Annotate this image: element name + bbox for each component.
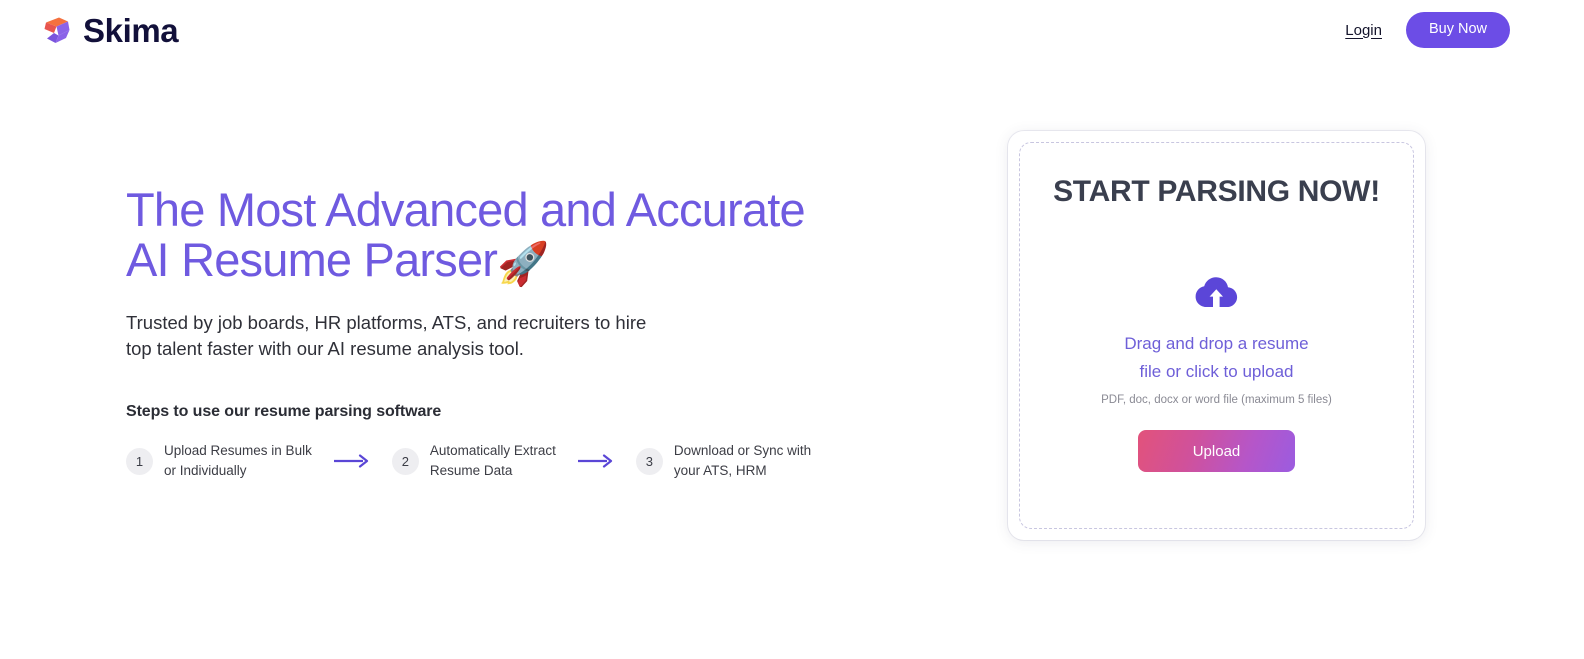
steps-title: Steps to use our resume parsing software	[126, 403, 926, 421]
upload-card-title: START PARSING NOW!	[1053, 175, 1380, 209]
dropzone-file-hint: PDF, doc, docx or word file (maximum 5 f…	[1101, 394, 1332, 406]
arrow-right-icon	[334, 454, 370, 468]
brand-logo[interactable]: Skima	[40, 13, 178, 47]
cloud-upload-icon	[1195, 277, 1239, 311]
hero-content: The Most Advanced and Accurate AI Resume…	[126, 185, 926, 481]
skima-logo-icon	[40, 13, 74, 47]
step-label-1: Upload Resumes in Bulk or Individually	[164, 441, 312, 481]
brand-name: Skima	[83, 14, 178, 47]
rocket-emoji-icon: 🚀	[497, 240, 549, 287]
step-item-2: 2 Automatically Extract Resume Data	[392, 441, 556, 481]
hero-subheadline: Trusted by job boards, HR platforms, ATS…	[126, 310, 766, 361]
step-item-3: 3 Download or Sync with your ATS, HRM	[636, 441, 811, 481]
step-item-1: 1 Upload Resumes in Bulk or Individually	[126, 441, 312, 481]
step-number-3: 3	[636, 448, 663, 475]
cloud-upload-icon-wrap	[1195, 277, 1239, 316]
site-header: Skima Login Buy Now	[0, 0, 1584, 60]
step-label-2: Automatically Extract Resume Data	[430, 441, 556, 481]
upload-button[interactable]: Upload	[1138, 430, 1295, 472]
header-nav-right: Login Buy Now	[1345, 12, 1510, 48]
landing-page: Skima Login Buy Now The Most Advanced an…	[0, 0, 1584, 659]
dropzone-instruction: Drag and drop a resume file or click to …	[1124, 330, 1308, 386]
page-title: The Most Advanced and Accurate AI Resume…	[126, 185, 926, 287]
headline-text: The Most Advanced and Accurate AI Resume…	[126, 183, 805, 286]
upload-card: START PARSING NOW! Drag and drop a resum…	[1008, 131, 1425, 540]
login-link[interactable]: Login	[1345, 22, 1382, 39]
dropzone[interactable]: START PARSING NOW! Drag and drop a resum…	[1019, 142, 1414, 529]
steps-list: 1 Upload Resumes in Bulk or Individually…	[126, 441, 926, 481]
step-number-1: 1	[126, 448, 153, 475]
step-label-3: Download or Sync with your ATS, HRM	[674, 441, 811, 481]
buy-now-button[interactable]: Buy Now	[1406, 12, 1510, 48]
step-number-2: 2	[392, 448, 419, 475]
arrow-right-icon	[578, 454, 614, 468]
